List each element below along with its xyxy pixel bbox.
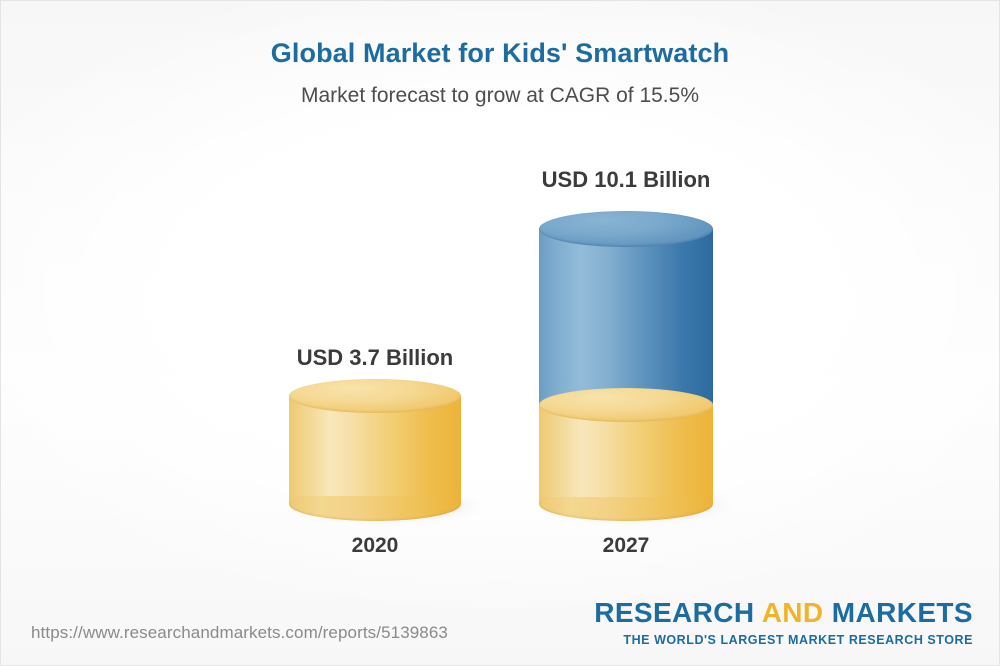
bar-year-label-2027: 2027: [466, 534, 786, 558]
bar-value-label-2027: USD 10.1 Billion: [466, 167, 786, 193]
brand-word-research: RESEARCH: [594, 597, 754, 628]
bar-top-ellipse-2027: [539, 211, 713, 247]
bar-value-label-2020: USD 3.7 Billion: [215, 345, 535, 371]
brand-name: RESEARCH AND MARKETS: [594, 599, 973, 627]
brand-logo: RESEARCH AND MARKETS THE WORLD'S LARGEST…: [594, 599, 973, 647]
source-url-link[interactable]: https://www.researchandmarkets.com/repor…: [31, 623, 448, 643]
infographic-canvas: Global Market for Kids' Smartwatch Marke…: [0, 0, 1000, 666]
brand-word-markets: MARKETS: [832, 597, 973, 628]
brand-word-and: AND: [762, 597, 824, 628]
footer: https://www.researchandmarkets.com/repor…: [1, 591, 999, 665]
chart-plot-area: USD 3.7 Billion 2020 USD 10.1 Billion: [1, 1, 1000, 666]
bar-top-ellipse-2020: [289, 379, 461, 413]
brand-tagline: THE WORLD'S LARGEST MARKET RESEARCH STOR…: [594, 633, 973, 647]
bar-segment-boundary-ellipse-2027: [539, 388, 713, 422]
